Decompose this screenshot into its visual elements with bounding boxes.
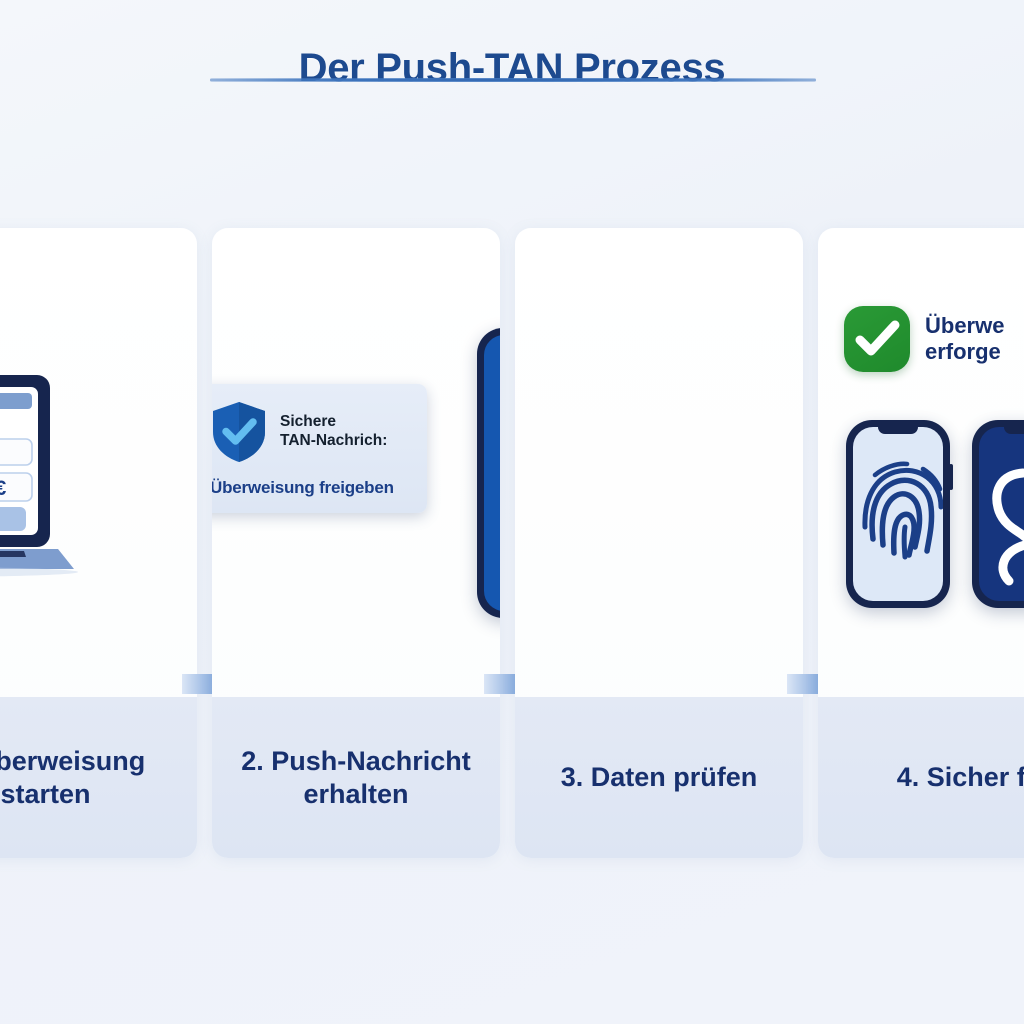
success-message: Überwe erforge bbox=[925, 313, 1004, 366]
step-3-label-band: 3. Daten prüfen bbox=[515, 697, 803, 858]
step-3-illustration: Ubenviicht Übervüfeg Betag: 500 € Emphög… bbox=[515, 228, 803, 697]
notification-title: Sichere TAN-Nachrich: bbox=[280, 413, 387, 451]
phone-device-fingerprint bbox=[846, 420, 950, 608]
notification-header: Sichere TAN-Nachrich: bbox=[212, 400, 412, 464]
step-4-illustration: Überwe erforge bbox=[818, 228, 1024, 697]
laptop-icon: 500 € bbox=[0, 373, 94, 588]
step-card-4[interactable]: Überwe erforge bbox=[818, 228, 1024, 858]
step-4-label-band: 4. Sicher fre bbox=[818, 697, 1024, 858]
green-check-icon bbox=[844, 306, 910, 372]
phone-screen-fingerprint bbox=[853, 427, 943, 601]
svg-text:500 €: 500 € bbox=[0, 477, 7, 500]
phone-screen-step2 bbox=[484, 335, 500, 611]
step-3-label: 3. Daten prüfen bbox=[551, 761, 768, 794]
push-notification-card[interactable]: Sichere TAN-Nachrich: Überweisung freige… bbox=[212, 384, 427, 513]
phone-notch bbox=[1004, 427, 1024, 434]
phone-side-button bbox=[949, 464, 953, 490]
step-2-label: 2. Push-Nachricht erhalten bbox=[231, 745, 481, 811]
fingerprint-icon bbox=[853, 427, 943, 601]
phone-screen-faceid bbox=[979, 427, 1024, 601]
step-2-illustration: Sichere TAN-Nachrich: Überweisung freige… bbox=[212, 228, 500, 697]
step-1-label: 1. Überweisung starten bbox=[0, 745, 155, 811]
notification-body: Überweisung freigeben bbox=[212, 478, 412, 498]
step-card-3[interactable]: Ubenviicht Übervüfeg Betag: 500 € Emphög… bbox=[515, 228, 803, 858]
step-2-label-band: 2. Push-Nachricht erhalten bbox=[212, 697, 500, 858]
shield-check-icon bbox=[212, 400, 268, 464]
phone-device-faceid bbox=[972, 420, 1024, 608]
step-card-1[interactable]: 500 € 1. Überweisung starten bbox=[0, 228, 197, 858]
phone-notch bbox=[878, 427, 918, 434]
page-title: Der Push-TAN Prozess bbox=[0, 46, 1024, 90]
step-1-illustration: 500 € bbox=[0, 228, 197, 697]
process-step-strip: 500 € 1. Überweisung starten bbox=[0, 228, 1024, 858]
face-id-icon bbox=[979, 427, 1024, 601]
phone-device-step2 bbox=[477, 328, 500, 618]
title-area: Der Push-TAN Prozess bbox=[0, 46, 1024, 90]
step-4-label: 4. Sicher fre bbox=[887, 761, 1024, 794]
step-1-label-band: 1. Überweisung starten bbox=[0, 697, 197, 858]
step-card-2[interactable]: Sichere TAN-Nachrich: Überweisung freige… bbox=[212, 228, 500, 858]
success-banner: Überwe erforge bbox=[844, 306, 1004, 372]
title-divider bbox=[210, 78, 816, 82]
